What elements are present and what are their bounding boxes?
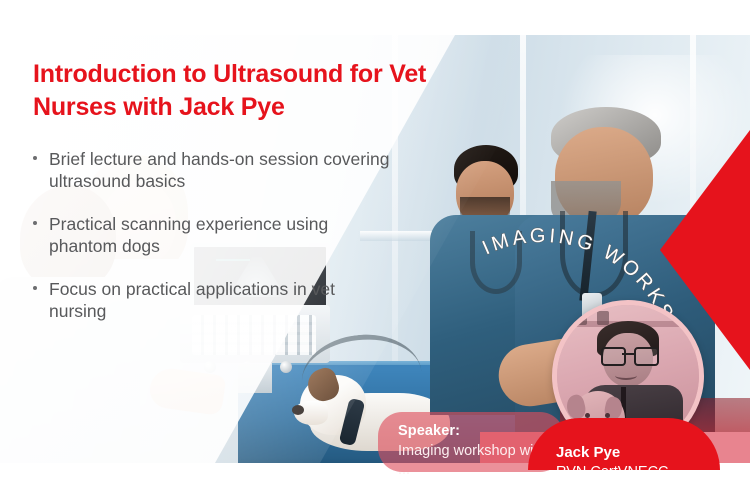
- top-white-bar: [0, 0, 750, 35]
- bullet-dot-icon: [33, 156, 37, 160]
- list-item: Brief lecture and hands-on session cover…: [31, 148, 391, 192]
- list-item: Focus on practical applications in vet n…: [31, 278, 391, 322]
- promo-banner: IMAGING WORKSHOP WITH Introduction to Ul…: [0, 0, 750, 500]
- avatar-smile: [615, 371, 637, 380]
- bullet-dot-icon: [33, 286, 37, 290]
- glasses-bridge: [622, 353, 634, 355]
- stethoscope: [470, 231, 522, 294]
- list-item-label: Focus on practical applications in vet n…: [49, 279, 335, 321]
- glasses-lens: [634, 347, 659, 366]
- bullet-dot-icon: [33, 221, 37, 225]
- glasses-icon: [601, 347, 655, 362]
- speaker-credentials: RVN CertVNECC: [556, 464, 669, 480]
- list-item-label: Practical scanning experience using phan…: [49, 214, 328, 256]
- list-item: Practical scanning experience using phan…: [31, 213, 391, 257]
- avatar-shelf-box: [597, 311, 609, 325]
- avatar-shelf-box: [575, 311, 587, 325]
- page-title: Introduction to Ultrasound for Vet Nurse…: [33, 58, 463, 123]
- list-item-label: Brief lecture and hands-on session cover…: [49, 149, 389, 191]
- speaker-name: Jack Pye: [556, 444, 620, 461]
- glasses-lens: [601, 347, 626, 366]
- bullet-list: Brief lecture and hands-on session cover…: [31, 148, 391, 322]
- speaker-label: Speaker:: [398, 423, 460, 439]
